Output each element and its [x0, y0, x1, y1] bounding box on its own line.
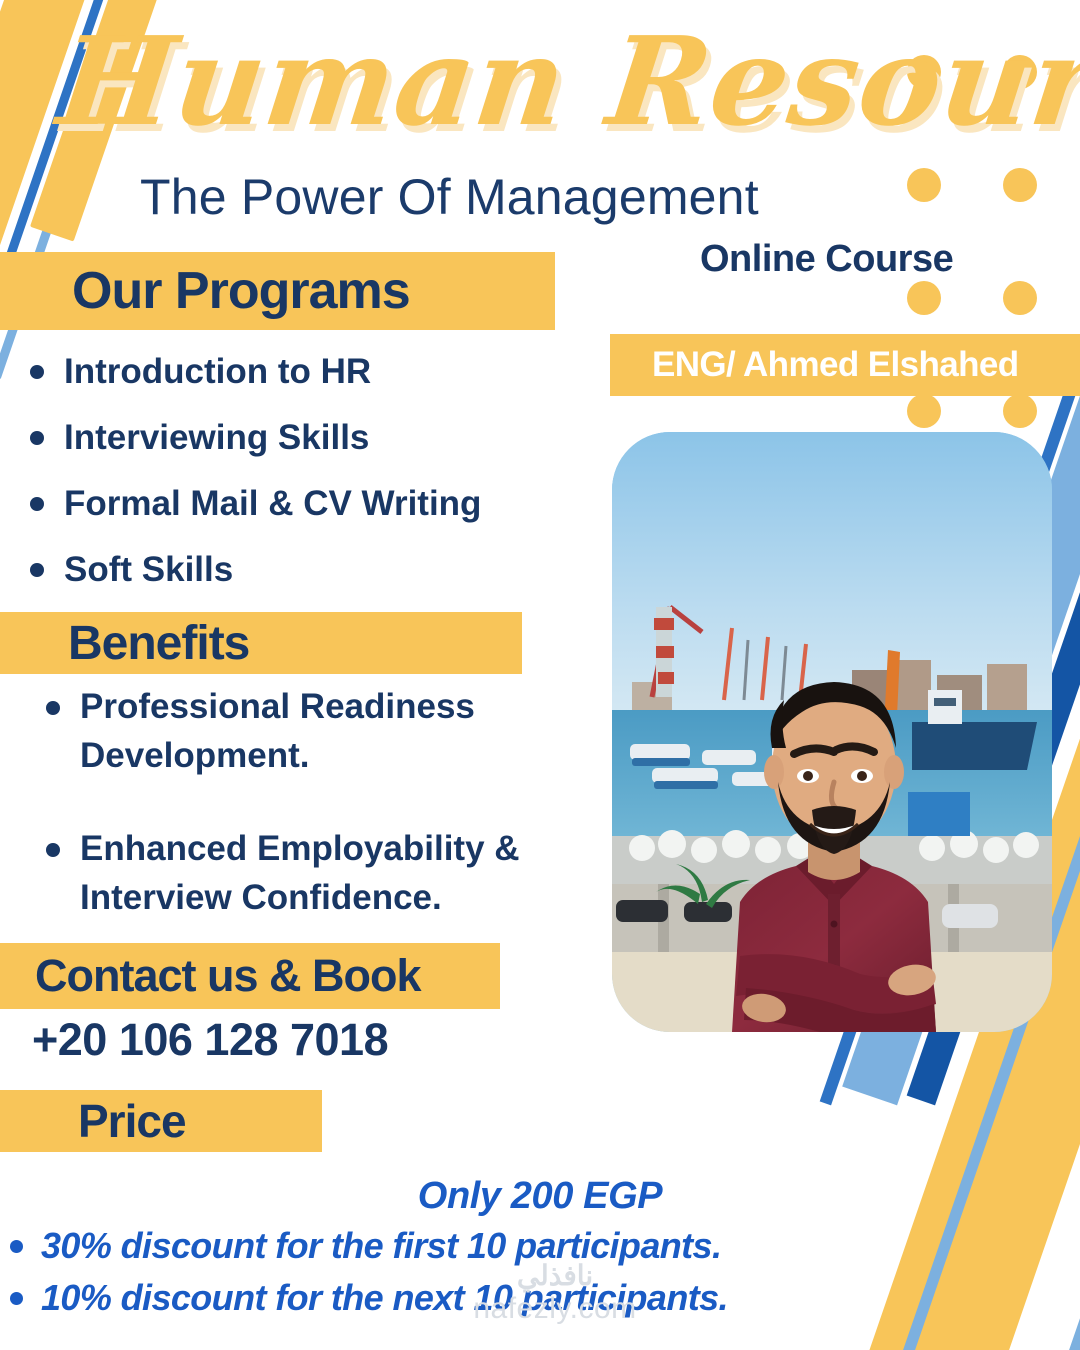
list-item: 10% discount for the next 10 participant… [10, 1277, 1020, 1319]
program-label: Soft Skills [64, 550, 233, 590]
course-format-label: Online Course [700, 238, 953, 281]
contact-heading-banner: Contact us & Book [0, 943, 500, 1009]
list-item: Soft Skills [22, 550, 582, 590]
page-title: Human Resource [51, 6, 949, 156]
bullet-icon [30, 365, 44, 379]
discount-label: 30% discount for the first 10 participan… [41, 1225, 721, 1267]
benefit-label: Professional Readiness Development. [80, 682, 545, 780]
price-heading-banner: Price [0, 1090, 322, 1152]
instructor-name: ENG/ Ahmed Elshahed [610, 345, 1019, 385]
list-item: Enhanced Employability & Interview Confi… [38, 824, 578, 922]
benefits-heading: Benefits [0, 616, 249, 671]
list-item: 30% discount for the first 10 participan… [10, 1225, 1020, 1267]
poster-canvas: Human Resource The Power Of Management O… [0, 0, 1080, 1350]
bullet-icon [30, 497, 44, 511]
bullet-icon [30, 563, 44, 577]
bullet-icon [30, 431, 44, 445]
list-item: Professional Readiness Development. [38, 682, 578, 780]
dot [907, 394, 941, 428]
price-heading: Price [0, 1094, 186, 1148]
contact-phone[interactable]: +20 106 128 7018 [32, 1014, 388, 1066]
programs-heading: Our Programs [0, 261, 410, 321]
program-label: Introduction to HR [64, 352, 371, 392]
dot [1003, 394, 1037, 428]
benefits-heading-banner: Benefits [0, 612, 522, 674]
program-label: Formal Mail & CV Writing [64, 484, 481, 524]
contact-heading: Contact us & Book [0, 950, 421, 1002]
bullet-icon [46, 701, 60, 715]
price-amount: Only 200 EGP [0, 1175, 1080, 1218]
instructor-photo [612, 432, 1052, 1032]
dot [907, 281, 941, 315]
bullet-icon [46, 843, 60, 857]
bullet-icon [10, 1292, 23, 1305]
photo-illustration [612, 432, 1052, 1032]
list-item: Formal Mail & CV Writing [22, 484, 582, 524]
list-item: Interviewing Skills [22, 418, 582, 458]
benefit-label: Enhanced Employability & Interview Confi… [80, 824, 555, 922]
dot [1003, 281, 1037, 315]
bullet-icon [10, 1240, 23, 1253]
discount-list: 30% discount for the first 10 participan… [10, 1225, 1020, 1329]
programs-heading-banner: Our Programs [0, 252, 555, 330]
program-label: Interviewing Skills [64, 418, 369, 458]
dot [1003, 168, 1037, 202]
discount-label: 10% discount for the next 10 participant… [41, 1277, 728, 1319]
list-item: Introduction to HR [22, 352, 582, 392]
page-subtitle: The Power Of Management [140, 168, 759, 226]
benefits-list: Professional Readiness Development. Enha… [38, 682, 578, 922]
dot [907, 168, 941, 202]
instructor-banner: ENG/ Ahmed Elshahed [610, 334, 1080, 396]
programs-list: Introduction to HR Interviewing Skills F… [22, 352, 582, 590]
